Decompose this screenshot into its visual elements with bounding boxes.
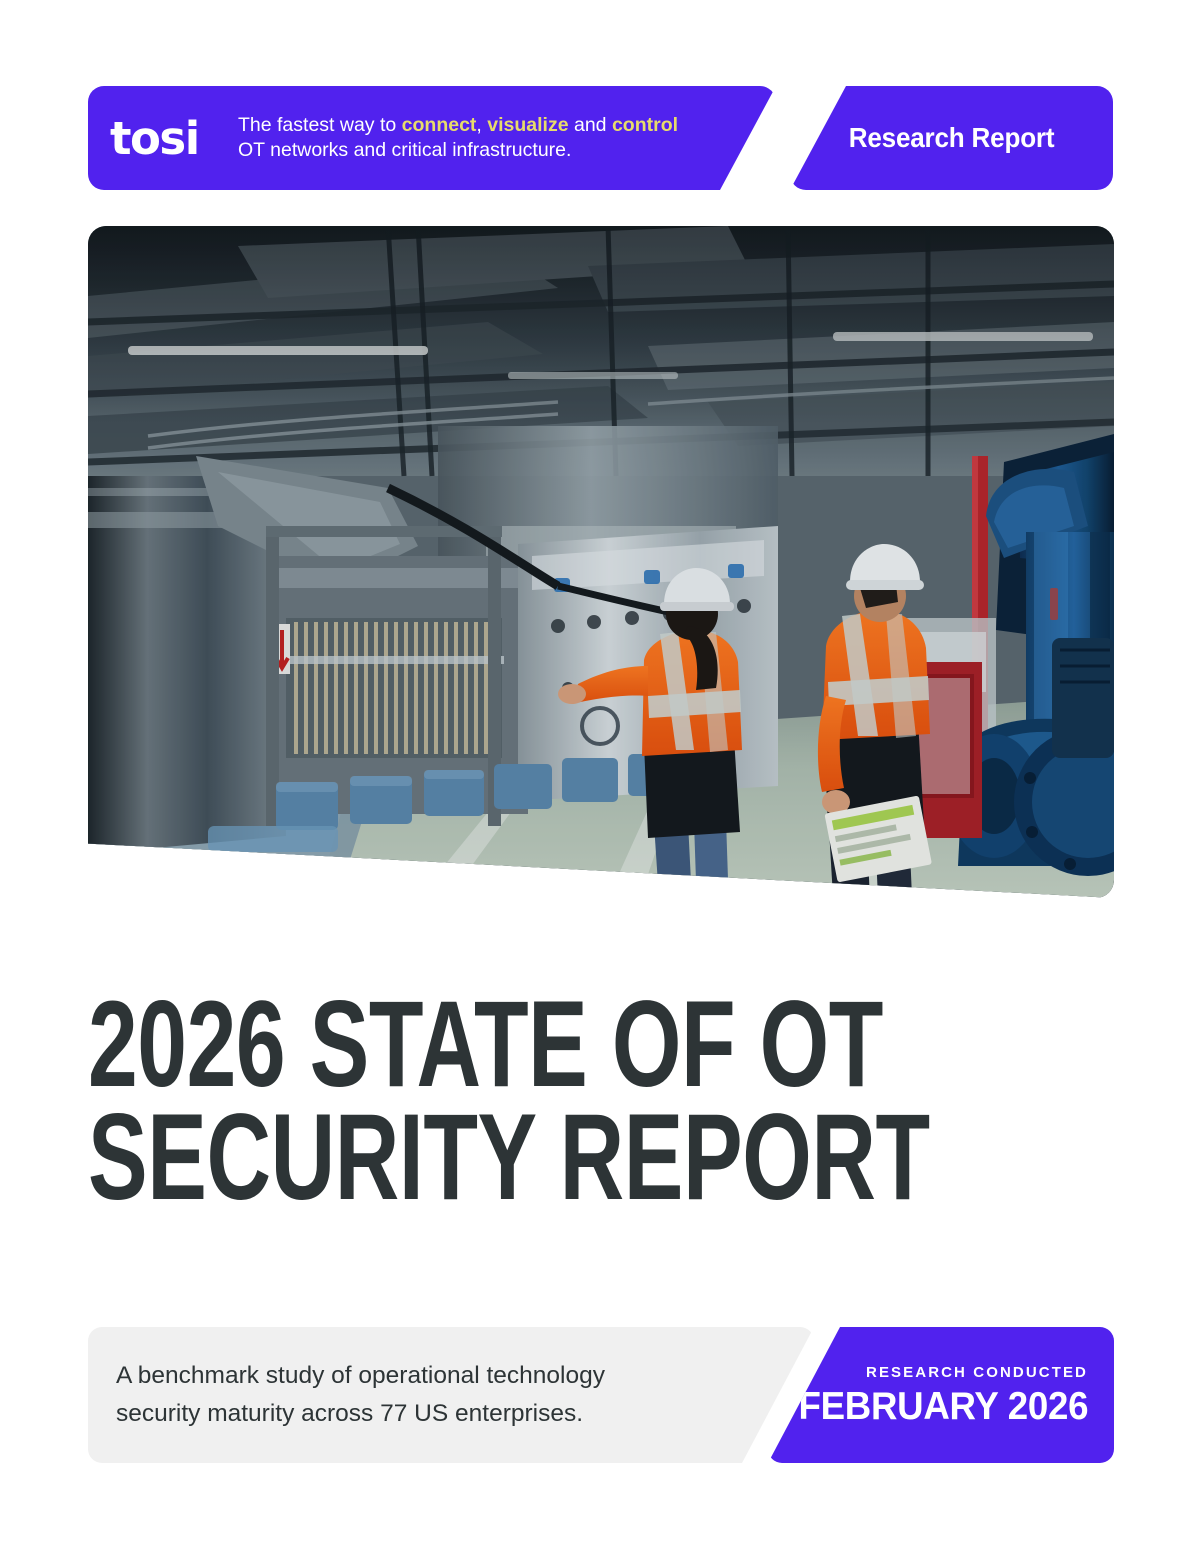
- hero-photo: [88, 226, 1114, 898]
- title-line-2: SECURITY REPORT: [88, 1099, 948, 1218]
- report-type-label: Research Report: [849, 122, 1055, 154]
- tagline-word-visualize: visualize: [487, 114, 568, 136]
- research-conducted-label: RESEARCH CONDUCTED: [866, 1364, 1088, 1381]
- subtitle-panel: A benchmark study of operational technol…: [88, 1327, 814, 1463]
- subtitle-line-2: security maturity across 77 US enterpris…: [116, 1400, 583, 1427]
- subtitle-line-1: A benchmark study of operational technol…: [116, 1362, 605, 1389]
- tagline-separator: ,: [476, 114, 487, 136]
- header-banner: tosi The fastest way to connect, visuali…: [88, 86, 1113, 190]
- tagline-word-control: control: [612, 114, 678, 136]
- footer-banner: A benchmark study of operational technol…: [88, 1327, 1114, 1463]
- tagline-prefix: The fastest way to: [238, 114, 402, 136]
- title-line-1: 2026 STATE OF OT: [88, 986, 948, 1105]
- research-date-panel: RESEARCH CONDUCTED FEBRUARY 2026: [768, 1327, 1114, 1463]
- industrial-plant-illustration: [88, 226, 1114, 898]
- header-brand-panel: tosi The fastest way to connect, visuali…: [88, 86, 776, 190]
- tagline-conjunction: and: [569, 114, 612, 136]
- logo-wordmark: tosi: [110, 116, 199, 161]
- report-subtitle: A benchmark study of operational technol…: [116, 1357, 645, 1433]
- tagline-line-2: OT networks and critical infrastructure.: [238, 139, 571, 161]
- header-report-type-panel: Research Report: [790, 86, 1113, 190]
- page-title: 2026 STATE OF OT SECURITY REPORT: [88, 995, 1088, 1209]
- tosi-logo[interactable]: tosi: [110, 116, 230, 161]
- hero-photo-frame: [88, 226, 1114, 898]
- header-tagline: The fastest way to connect, visualize an…: [238, 113, 688, 163]
- tagline-word-connect: connect: [402, 114, 477, 136]
- research-date-value: FEBRUARY 2026: [798, 1387, 1088, 1426]
